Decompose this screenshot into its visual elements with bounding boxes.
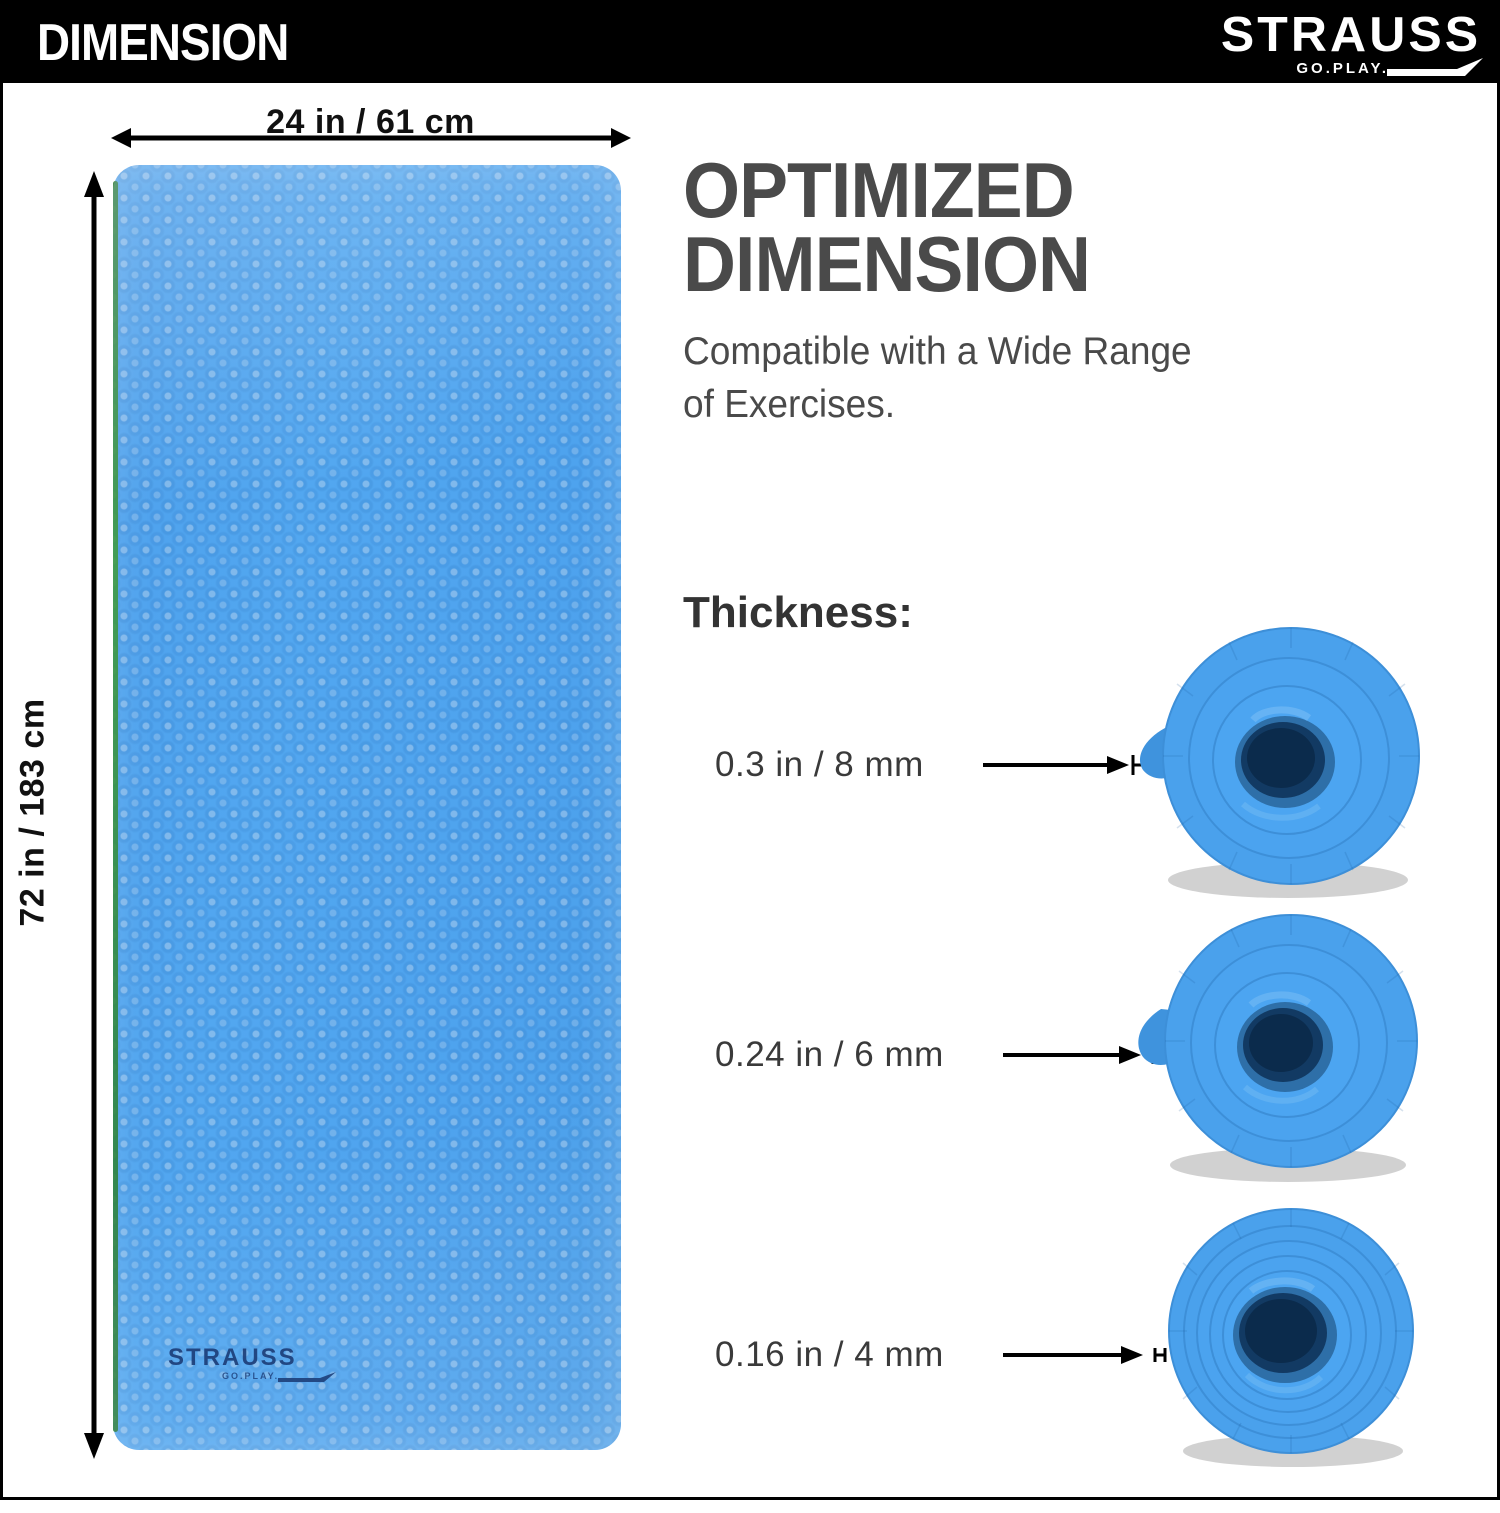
mat-logo-swoosh-icon bbox=[278, 1372, 336, 1384]
rolled-mat-icon bbox=[1123, 1183, 1443, 1483]
brand-logo: STRAUSS GO.PLAY. bbox=[1125, 8, 1485, 80]
headline: OPTIMIZED DIMENSION bbox=[683, 153, 1435, 301]
rolled-mat-icon bbox=[1113, 608, 1443, 908]
thickness-label: 0.16 in / 4 mm bbox=[715, 1335, 944, 1375]
mat-logo-name: STRAUSS bbox=[168, 1344, 297, 1372]
brand-name: STRAUSS bbox=[1221, 8, 1481, 62]
right-panel: OPTIMIZED DIMENSION Compatible with a Wi… bbox=[683, 153, 1483, 1463]
thickness-label: 0.3 in / 8 mm bbox=[715, 745, 924, 785]
brand-tagline: GO.PLAY. bbox=[1296, 60, 1389, 77]
page-title: DIMENSION bbox=[37, 11, 288, 75]
yoga-mat-flat: STRAUSS GO.PLAY. bbox=[113, 165, 621, 1450]
subheadline-line-1: Compatible with a Wide Range bbox=[683, 325, 1443, 378]
mat-surface bbox=[113, 165, 621, 1450]
thickness-label: 0.24 in / 6 mm bbox=[715, 1035, 944, 1075]
infographic-page: DIMENSION STRAUSS GO.PLAY. 24 in / 61 cm… bbox=[0, 0, 1500, 1500]
headline-line-2: DIMENSION bbox=[683, 227, 1435, 301]
rolled-mat-icon bbox=[1113, 893, 1443, 1193]
thickness-option-row: 0.24 in / 6 mm bbox=[683, 913, 1483, 1213]
length-arrow-icon bbox=[81, 171, 107, 1459]
subheadline: Compatible with a Wide Range of Exercise… bbox=[683, 325, 1443, 431]
header-bar: DIMENSION STRAUSS GO.PLAY. bbox=[3, 3, 1500, 83]
length-dimension-label: 72 in / 183 cm bbox=[14, 633, 53, 993]
subheadline-line-2: of Exercises. bbox=[683, 378, 1443, 431]
mat-printed-logo: STRAUSS GO.PLAY. bbox=[168, 1344, 348, 1392]
width-arrow-icon bbox=[111, 125, 631, 151]
thickness-option-row: 0.16 in / 4 mm bbox=[683, 1213, 1483, 1513]
mat-edge-strip bbox=[113, 181, 118, 1432]
brand-swoosh-icon bbox=[1387, 58, 1483, 80]
headline-line-1: OPTIMIZED bbox=[683, 153, 1435, 227]
thickness-option-row: 0.3 in / 8 mm bbox=[683, 623, 1483, 923]
mat-logo-tagline: GO.PLAY. bbox=[222, 1371, 279, 1381]
